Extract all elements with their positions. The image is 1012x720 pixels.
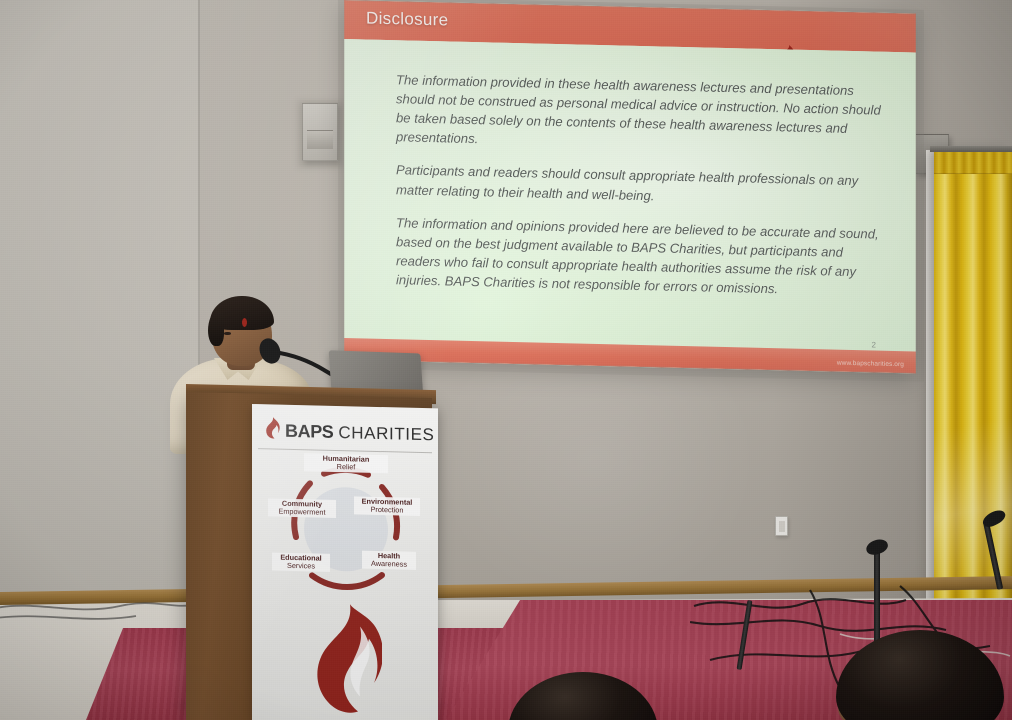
circle-label-humanitarian-relief: Humanitarian Relief (304, 453, 388, 473)
presenter-tilak (242, 318, 247, 327)
slide-paragraph-1: The information provided in these health… (396, 70, 890, 158)
circle-label-environmental-protection: Environmental Protection (354, 496, 420, 516)
slide-paragraph-3: The information and opinions provided he… (396, 213, 890, 301)
presenter-eye (224, 332, 231, 335)
wall-speaker-box (302, 103, 338, 161)
circle-label-health-awareness: Health Awareness (362, 551, 416, 571)
floor-cables-left (0, 590, 196, 630)
curtain-rod (930, 146, 1012, 152)
projected-slide: Disclosure BAPS CHARITIES The informatio… (344, 0, 916, 373)
flame-icon (264, 416, 280, 445)
circle-label-educational-services: Educational Services (272, 552, 330, 572)
power-outlet (775, 516, 788, 536)
podium-logo-baps: BAPS (285, 421, 333, 443)
presentation-photo: Disclosure BAPS CHARITIES The informatio… (0, 0, 1012, 720)
podium-sign-circle-diagram: Humanitarian Relief Environmental Protec… (270, 456, 422, 602)
circle-label-light: Empowerment (270, 508, 334, 518)
circle-label-light: Awareness (364, 560, 414, 569)
podium-logo-charities: CHARITIES (338, 423, 434, 445)
slide-page-number: 2 (872, 340, 876, 349)
circle-label-light: Relief (306, 462, 386, 472)
flame-icon (308, 601, 382, 720)
podium-sign: BAPS CHARITIES Humanitarian Relief Envir… (252, 404, 438, 720)
podium-sign-divider (258, 448, 432, 453)
circle-label-light: Protection (356, 506, 418, 516)
slide-paragraph-2: Participants and readers should consult … (396, 161, 890, 211)
circle-label-light: Services (274, 562, 328, 571)
slide-text-block: The information provided in these health… (396, 70, 890, 301)
slide-title: Disclosure (366, 9, 448, 31)
presenter-hair-side (208, 312, 224, 346)
circle-label-community-empowerment: Community Empowerment (268, 498, 336, 518)
podium-sign-logo: BAPS CHARITIES (264, 416, 435, 449)
slide-body: The information provided in these health… (344, 39, 916, 351)
